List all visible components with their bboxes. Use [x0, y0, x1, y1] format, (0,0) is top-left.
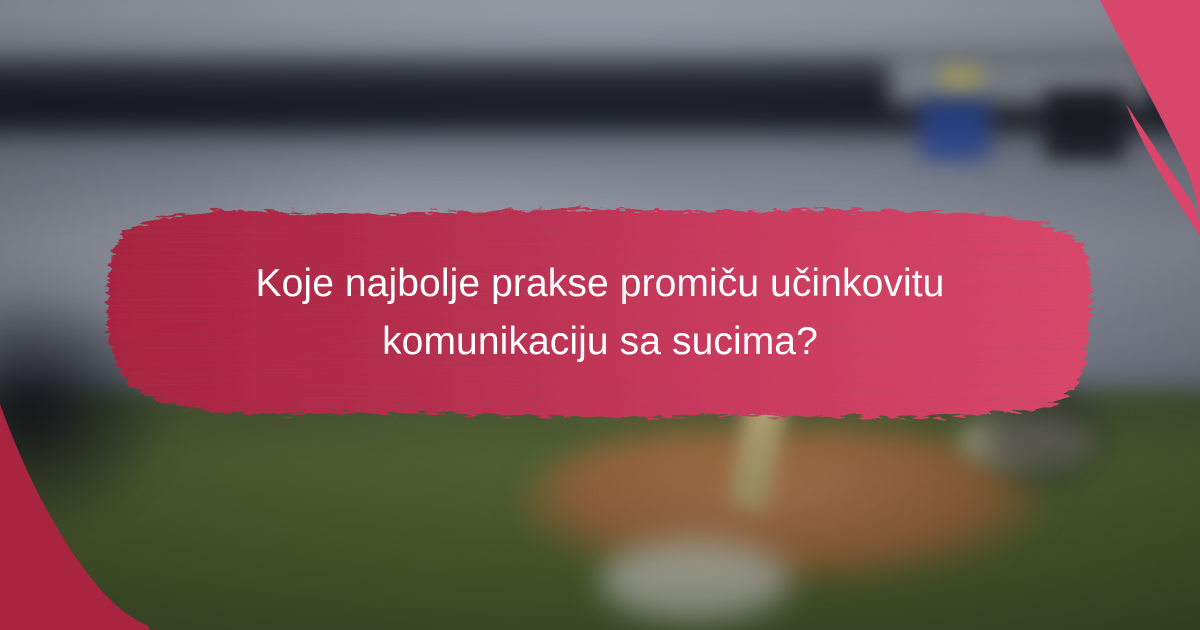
headline-line-1: Koje najbolje prakse promiču učinkovitu — [150, 255, 1050, 313]
page-title: Koje najbolje prakse promiču učinkovitu … — [150, 255, 1050, 371]
share-card: Koje najbolje prakse promiču učinkovitu … — [0, 0, 1200, 630]
headline-line-2: komunikaciju sa sucima? — [150, 313, 1050, 371]
